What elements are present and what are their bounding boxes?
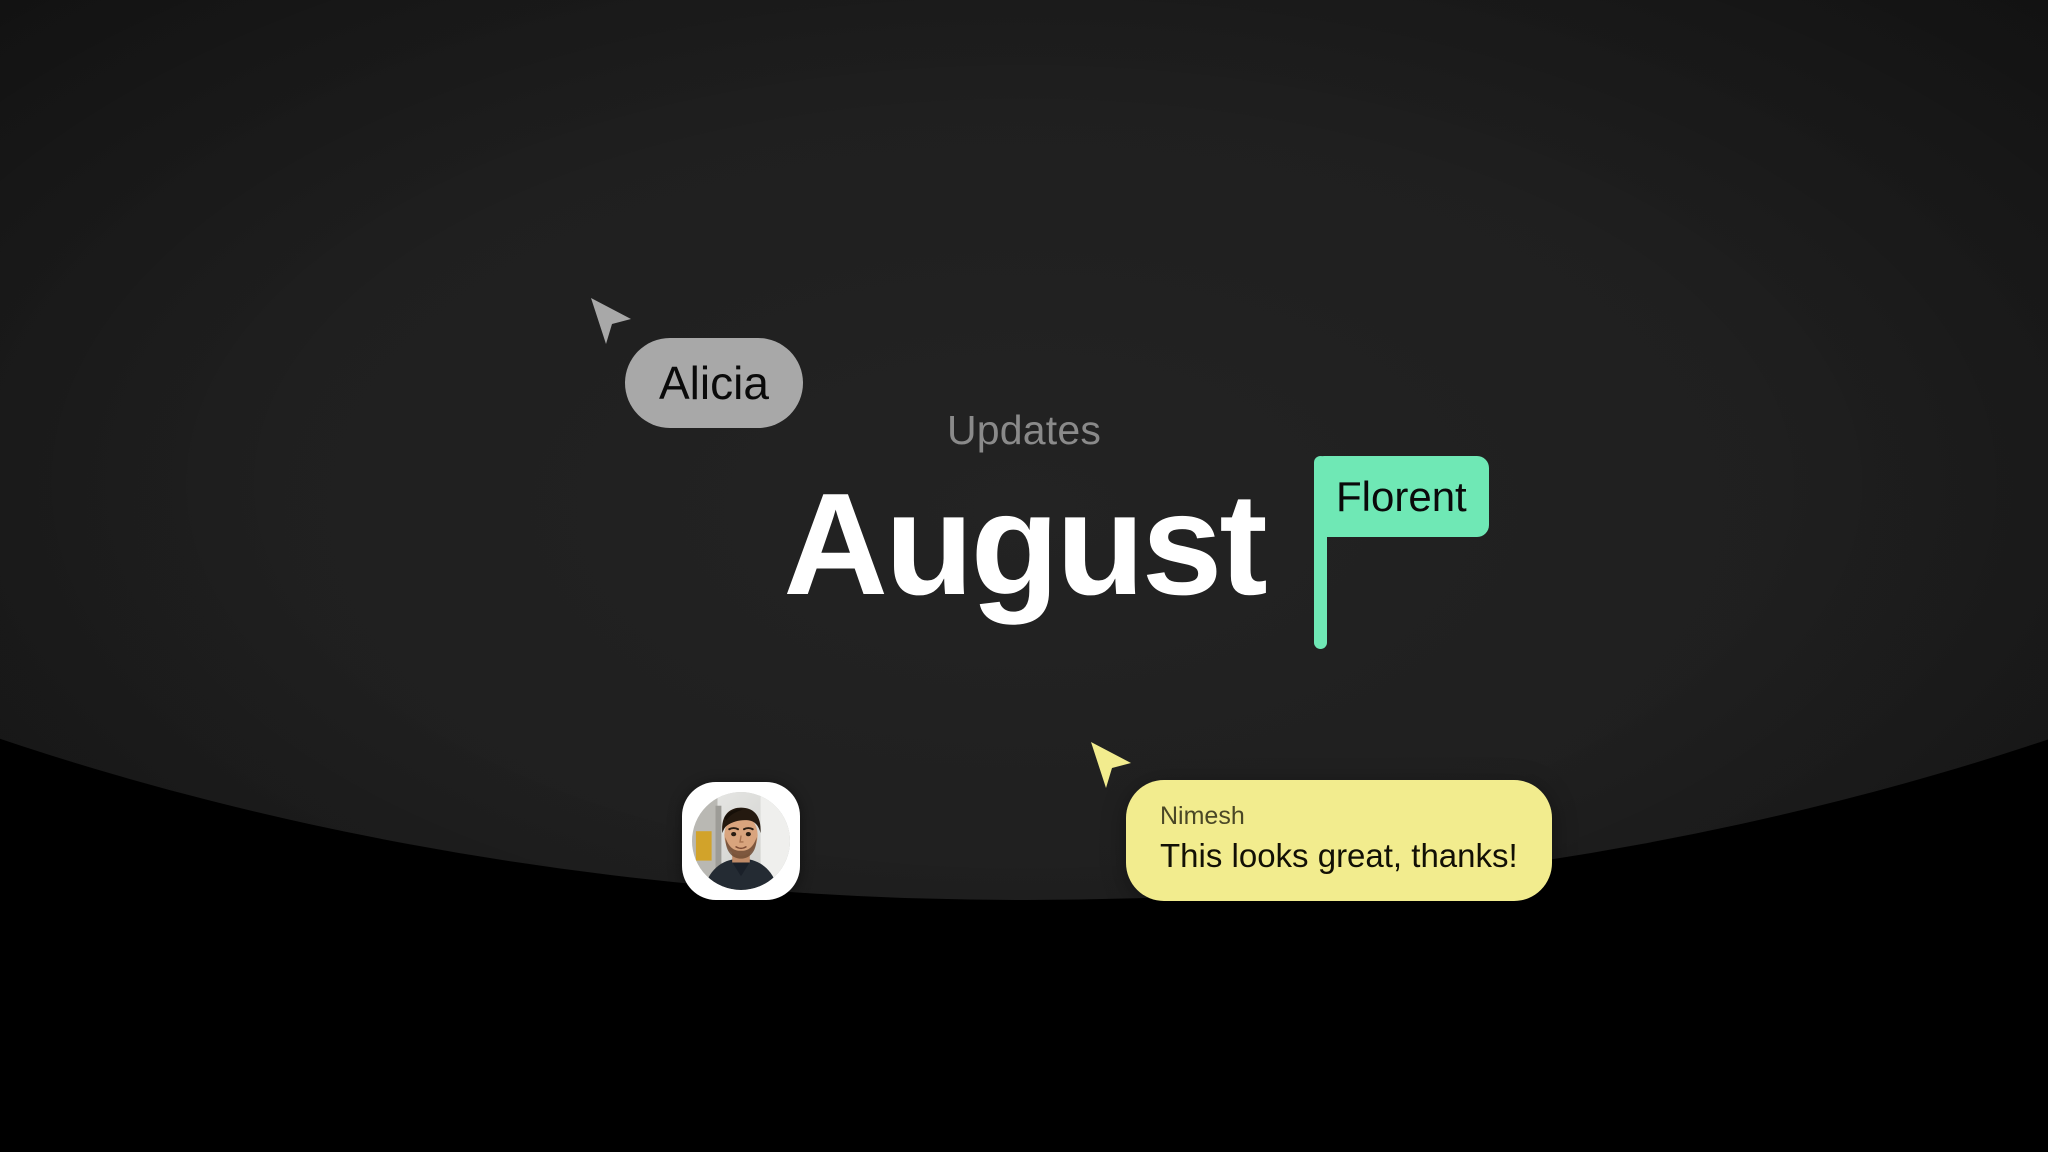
cursor-arrow-icon-nimesh[interactable] — [1088, 740, 1142, 794]
avatar[interactable] — [682, 782, 800, 900]
collaborator-label-florent[interactable]: Florent — [1314, 456, 1489, 537]
heading-block: Updates August — [0, 410, 2048, 620]
collaborator-name-florent: Florent — [1336, 476, 1467, 518]
message-author: Nimesh — [1160, 802, 1518, 831]
collaborator-name-alicia: Alicia — [659, 356, 769, 410]
page-title: August — [0, 468, 2048, 620]
page-eyebrow: Updates — [0, 410, 2048, 451]
avatar-photo — [692, 792, 790, 890]
collaborator-label-alicia[interactable]: Alicia — [625, 338, 803, 428]
cursor-arrow-icon-alicia[interactable] — [588, 296, 642, 350]
canvas: Updates August Alicia Florent — [0, 0, 2048, 1152]
message-bubble-nimesh[interactable]: Nimesh This looks great, thanks! — [1126, 780, 1552, 901]
background-ellipse — [0, 0, 2048, 900]
background-vignette — [0, 0, 2048, 1152]
message-text: This looks great, thanks! — [1160, 836, 1518, 876]
